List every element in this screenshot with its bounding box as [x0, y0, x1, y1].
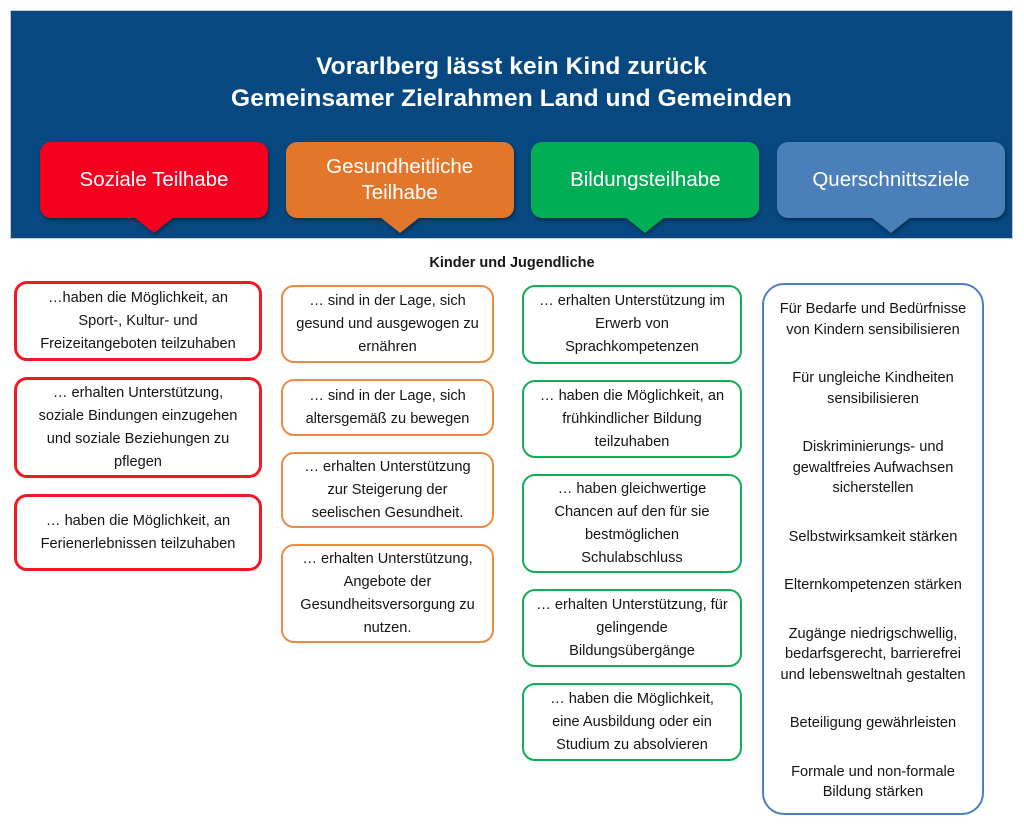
pillar-label: Soziale Teilhabe	[80, 167, 229, 193]
crosscutting-goal: Für Bedarfe und Bedürfnisse von Kindern …	[776, 299, 970, 340]
goal-card: … erhalten Unterstützung im Erwerb von S…	[522, 285, 742, 364]
goal-card: … haben die Möglichkeit, eine Ausbildung…	[522, 683, 742, 761]
page-title-line-1: Vorarlberg lässt kein Kind zurück	[316, 53, 707, 80]
crosscutting-goal: Beteiligung gewährleisten	[776, 713, 970, 734]
section-label-kinder-und-jugendliche: Kinder und Jugendliche	[0, 255, 1024, 271]
pillar-label: Querschnittsziele	[812, 167, 969, 193]
column-bildungsteilhabe: … erhalten Unterstützung im Erwerb von S…	[522, 285, 742, 777]
panel-querschnittsziele: Für Bedarfe und Bedürfnisse von Kindern …	[762, 283, 984, 815]
pillar-querschnittsziele[interactable]: Querschnittsziele	[777, 142, 1005, 218]
column-gesundheitliche-teilhabe: … sind in der Lage, sich gesund und ausg…	[281, 285, 494, 659]
pillar-soziale-teilhabe[interactable]: Soziale Teilhabe	[40, 142, 268, 218]
page-title-line-2: Gemeinsamer Zielrahmen Land und Gemeinde…	[11, 83, 1012, 115]
crosscutting-goal: Formale und non-formale Bildung stärken	[776, 762, 970, 803]
crosscutting-goal: Selbstwirksamkeit stärken	[776, 527, 970, 548]
crosscutting-goal: Diskriminierungs- und gewaltfreies Aufwa…	[776, 437, 970, 499]
crosscutting-goal: Zugänge niedrigschwellig, bedarfsgerecht…	[776, 624, 970, 686]
pillar-group: Soziale Teilhabe Gesundheitliche Teilhab…	[40, 142, 1005, 234]
pillar-bildungsteilhabe[interactable]: Bildungsteilhabe	[531, 142, 759, 218]
goal-card: … erhalten Unterstützung, soziale Bindun…	[14, 377, 262, 478]
goal-card: … haben die Möglichkeit, an Ferienerlebn…	[14, 494, 262, 571]
goal-card: …haben die Möglichkeit, an Sport-, Kultu…	[14, 281, 262, 361]
goal-card: … sind in der Lage, sich altersgemäß zu …	[281, 379, 494, 436]
goal-card: … erhalten Unterstützung, Angebote der G…	[281, 544, 494, 643]
goal-card: … haben die Möglichkeit, an frühkindlich…	[522, 380, 742, 458]
goal-card: … sind in der Lage, sich gesund und ausg…	[281, 285, 494, 363]
pillar-label: Bildungsteilhabe	[570, 167, 720, 193]
goal-card: … erhalten Unterstützung zur Steigerung …	[281, 452, 494, 528]
column-soziale-teilhabe: …haben die Möglichkeit, an Sport-, Kultu…	[14, 281, 262, 587]
goal-card: … haben gleichwertige Chancen auf den fü…	[522, 474, 742, 573]
goal-card: … erhalten Unterstützung, für gelingende…	[522, 589, 742, 667]
crosscutting-goal: Für ungleiche Kindheiten sensibilisieren	[776, 368, 970, 409]
pillar-label: Gesundheitliche Teilhabe	[294, 154, 506, 206]
page-title: Vorarlberg lässt kein Kind zurück Gemein…	[11, 51, 1012, 115]
header-banner: Vorarlberg lässt kein Kind zurück Gemein…	[11, 11, 1012, 238]
crosscutting-goal: Elternkompetenzen stärken	[776, 575, 970, 596]
pillar-gesundheitliche-teilhabe[interactable]: Gesundheitliche Teilhabe	[286, 142, 514, 218]
